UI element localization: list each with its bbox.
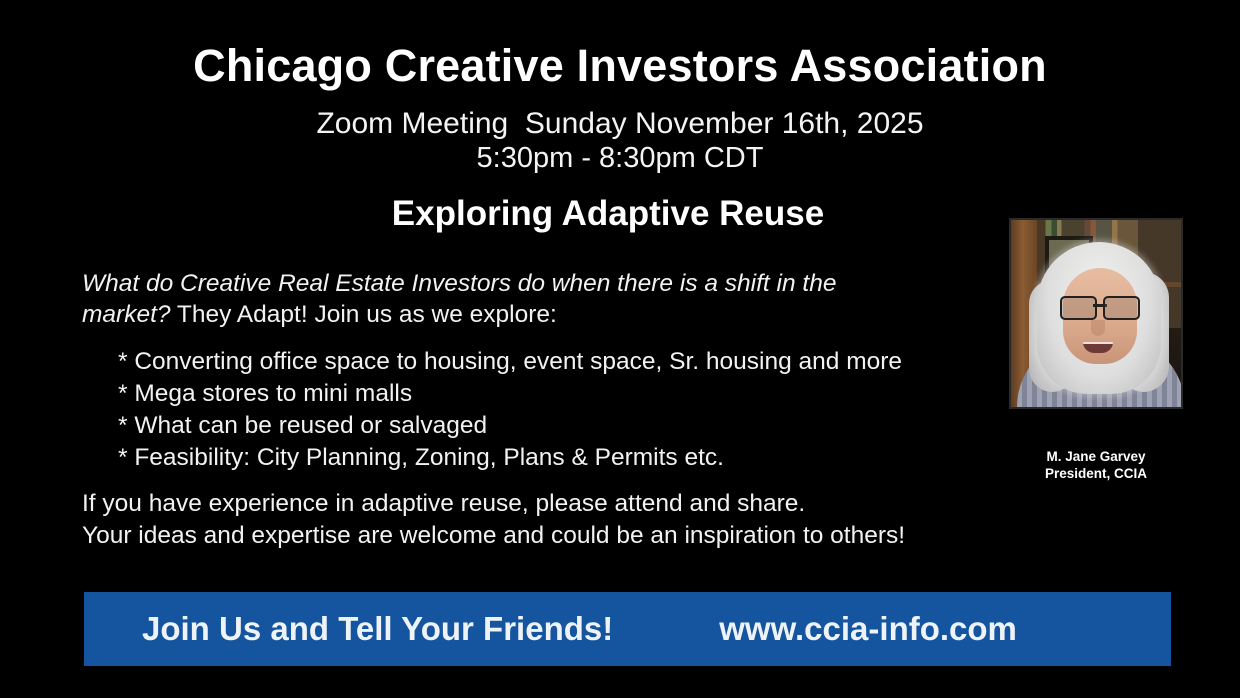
list-item: * Feasibility: City Planning, Zoning, Pl… [118, 442, 1018, 474]
speaker-caption: M. Jane Garvey President, CCIA [1009, 448, 1183, 482]
footer-cta-text: Join Us and Tell Your Friends! [142, 610, 613, 648]
outro-line-1: If you have experience in adaptive reuse… [82, 488, 1002, 520]
meeting-time-line: 5:30pm - 8:30pm CDT [0, 142, 1240, 175]
list-item: * Converting office space to housing, ev… [118, 346, 1018, 378]
meeting-date-line: Zoom Meeting Sunday November 16th, 2025 [0, 106, 1240, 141]
eyeglasses-left-lens [1060, 296, 1097, 320]
list-item: * Mega stores to mini malls [118, 378, 1018, 410]
list-item: * What can be reused or salvaged [118, 410, 1018, 442]
topic-title-text: Exploring Adaptive Reuse [392, 194, 824, 234]
intro-answer-text: They Adapt! Join us as we explore: [171, 301, 557, 328]
person-nose [1091, 320, 1105, 336]
eyeglasses-right-lens [1103, 296, 1140, 320]
speaker-name: M. Jane Garvey [1009, 448, 1183, 465]
eyeglasses-icon [1060, 296, 1140, 316]
outro-paragraph: If you have experience in adaptive reuse… [82, 488, 1002, 552]
intro-paragraph: What do Creative Real Estate Investors d… [82, 268, 922, 330]
footer-banner: Join Us and Tell Your Friends! www.ccia-… [84, 592, 1171, 666]
footer-website-link[interactable]: www.ccia-info.com [719, 610, 1017, 648]
speaker-photo [1009, 218, 1183, 409]
outro-line-2: Your ideas and expertise are welcome and… [82, 520, 1002, 552]
speaker-photo-inner [1011, 220, 1181, 407]
flyer-slide: Chicago Creative Investors Association Z… [0, 0, 1240, 698]
topic-bullet-list: * Converting office space to housing, ev… [118, 346, 1018, 474]
speaker-role: President, CCIA [1009, 465, 1183, 482]
page-title: Chicago Creative Investors Association [0, 42, 1240, 89]
